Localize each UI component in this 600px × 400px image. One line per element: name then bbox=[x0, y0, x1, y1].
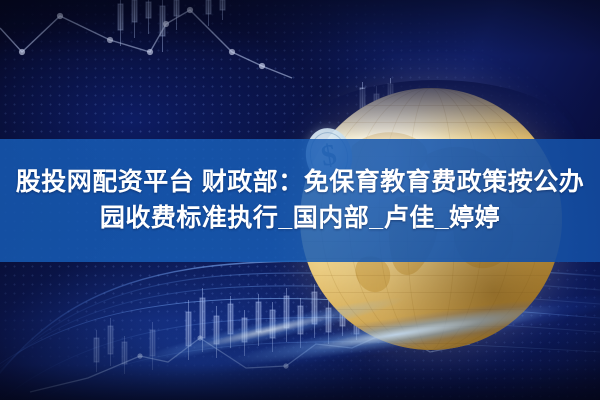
vignette-overlay bbox=[0, 0, 600, 400]
thumbnail-image: $ 股投网配资平台 财政部：免保育教育费政策按公办 园收费标准执行_国内部_卢佳… bbox=[0, 0, 600, 400]
